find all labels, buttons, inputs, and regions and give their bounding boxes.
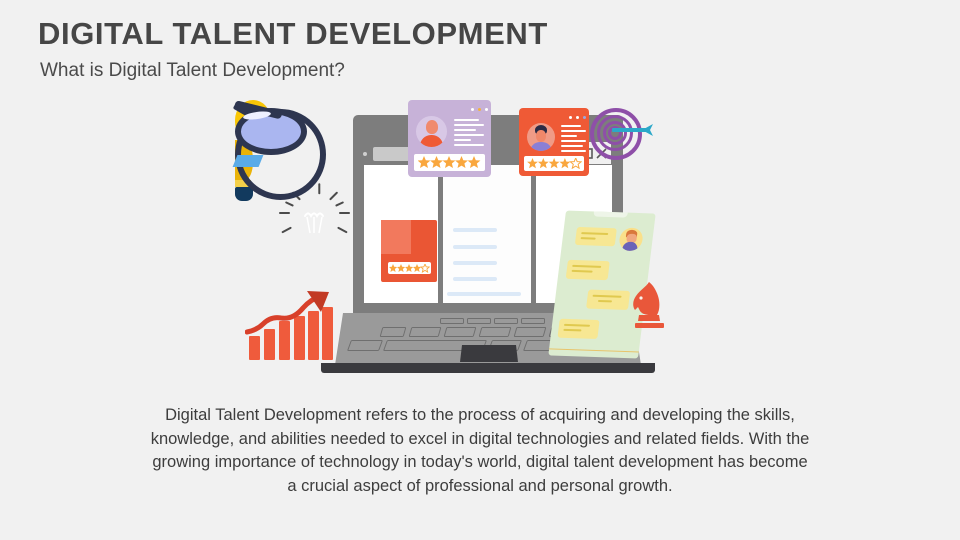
digital-talent-development-illustration [235, 100, 735, 400]
blue-note-shape [233, 155, 264, 167]
page-subtitle: What is Digital Talent Development? [40, 60, 345, 82]
body-paragraph: Digital Talent Development refers to the… [148, 404, 812, 498]
magnifying-glass-small[interactable] [235, 100, 735, 400]
slide-canvas: DIGITAL TALENT DEVELOPMENT What is Digit… [0, 0, 960, 540]
page-title: DIGITAL TALENT DEVELOPMENT [38, 16, 548, 52]
